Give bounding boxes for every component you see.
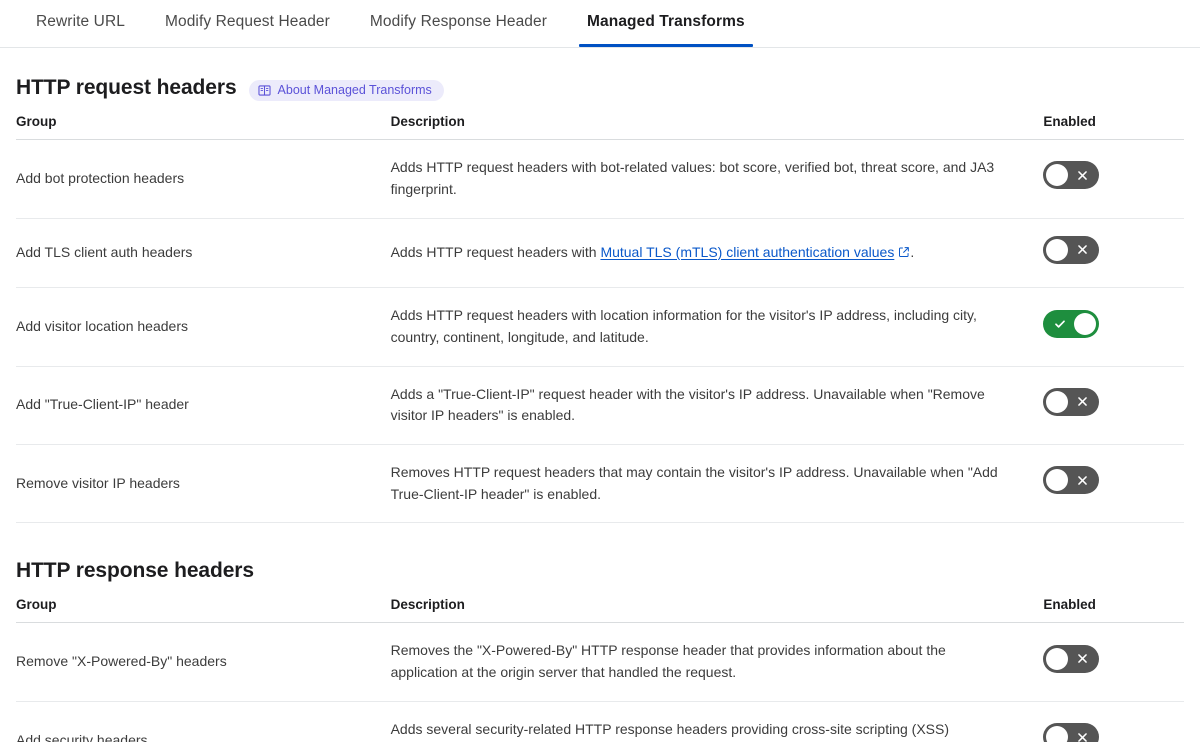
table-row: Add security headers Adds several securi… xyxy=(16,701,1184,742)
table-header-row: Group Description Enabled xyxy=(16,597,1184,623)
http-response-headers-section: HTTP response headers Group Description … xyxy=(0,523,1200,742)
mtls-documentation-link[interactable]: Mutual TLS (mTLS) client authentication … xyxy=(600,244,894,260)
row-description: Adds HTTP request headers with Mutual TL… xyxy=(391,218,1044,288)
toggle-add-bot-protection-headers[interactable] xyxy=(1043,161,1099,189)
close-icon xyxy=(1065,466,1099,494)
row-description: Adds HTTP request headers with location … xyxy=(391,288,1044,366)
toggle-add-true-client-ip-header[interactable] xyxy=(1043,388,1099,416)
tab-rewrite-url[interactable]: Rewrite URL xyxy=(16,0,145,46)
toggle-add-security-headers[interactable] xyxy=(1043,723,1099,742)
request-headers-table: Group Description Enabled Add bot protec… xyxy=(16,114,1184,523)
page-title: HTTP request headers xyxy=(16,76,237,100)
table-row: Add "True-Client-IP" header Adds a "True… xyxy=(16,366,1184,444)
row-description: Adds HTTP request headers with bot-relat… xyxy=(391,140,1044,218)
row-group-name: Remove "X-Powered-By" headers xyxy=(16,623,391,701)
close-icon xyxy=(1065,161,1099,189)
row-enabled-cell xyxy=(1043,444,1184,522)
toggle-knob xyxy=(1074,313,1096,335)
row-description: Removes the "X-Powered-By" HTTP response… xyxy=(391,623,1044,701)
table-row: Remove visitor IP headers Removes HTTP r… xyxy=(16,444,1184,522)
close-icon xyxy=(1065,645,1099,673)
table-header-row: Group Description Enabled xyxy=(16,114,1184,140)
row-description: Adds a "True-Client-IP" request header w… xyxy=(391,366,1044,444)
column-header-group: Group xyxy=(16,597,391,623)
managed-transforms-page: Rewrite URL Modify Request Header Modify… xyxy=(0,0,1200,742)
table-row: Add bot protection headers Adds HTTP req… xyxy=(16,140,1184,218)
tab-label: Modify Response Header xyxy=(370,13,547,30)
response-headers-table: Group Description Enabled Remove "X-Powe… xyxy=(16,597,1184,742)
tab-modify-request-header[interactable]: Modify Request Header xyxy=(145,0,350,46)
row-group-name: Remove visitor IP headers xyxy=(16,444,391,522)
row-group-name: Add "True-Client-IP" header xyxy=(16,366,391,444)
tab-label: Modify Request Header xyxy=(165,13,330,30)
row-group-name: Add security headers xyxy=(16,701,391,742)
column-header-enabled: Enabled xyxy=(1043,597,1184,623)
row-group-name: Add visitor location headers xyxy=(16,288,391,366)
toggle-add-visitor-location-headers[interactable] xyxy=(1043,310,1099,338)
row-enabled-cell xyxy=(1043,366,1184,444)
row-enabled-cell xyxy=(1043,140,1184,218)
tab-managed-transforms[interactable]: Managed Transforms xyxy=(567,0,765,46)
toggle-remove-visitor-ip-headers[interactable] xyxy=(1043,466,1099,494)
about-managed-transforms-badge[interactable]: About Managed Transforms xyxy=(249,80,444,101)
row-description: Removes HTTP request headers that may co… xyxy=(391,444,1044,522)
tab-modify-response-header[interactable]: Modify Response Header xyxy=(350,0,567,46)
row-description: Adds several security-related HTTP respo… xyxy=(391,701,1044,742)
close-icon xyxy=(1065,236,1099,264)
http-request-headers-section: HTTP request headers About Managed Trans… xyxy=(0,48,1200,523)
description-text-after: . xyxy=(910,244,914,260)
toggle-remove-x-powered-by-headers[interactable] xyxy=(1043,645,1099,673)
tab-label: Rewrite URL xyxy=(36,13,125,30)
row-enabled-cell xyxy=(1043,623,1184,701)
toggle-add-tls-client-auth-headers[interactable] xyxy=(1043,236,1099,264)
check-icon xyxy=(1043,310,1077,338)
description-text-before: Adds HTTP request headers with xyxy=(391,244,601,260)
response-section-header: HTTP response headers xyxy=(16,523,1184,597)
book-icon xyxy=(258,84,271,97)
row-enabled-cell xyxy=(1043,288,1184,366)
column-header-description: Description xyxy=(391,114,1044,140)
close-icon xyxy=(1065,388,1099,416)
row-group-name: Add TLS client auth headers xyxy=(16,218,391,288)
row-enabled-cell xyxy=(1043,701,1184,742)
badge-label: About Managed Transforms xyxy=(278,84,432,97)
column-header-description: Description xyxy=(391,597,1044,623)
close-icon xyxy=(1065,723,1099,742)
table-row: Add visitor location headers Adds HTTP r… xyxy=(16,288,1184,366)
table-row: Add TLS client auth headers Adds HTTP re… xyxy=(16,218,1184,288)
external-link-icon xyxy=(898,243,910,265)
tab-label: Managed Transforms xyxy=(587,13,745,30)
tab-bar: Rewrite URL Modify Request Header Modify… xyxy=(0,0,1200,48)
column-header-group: Group xyxy=(16,114,391,140)
column-header-enabled: Enabled xyxy=(1043,114,1184,140)
section-title: HTTP response headers xyxy=(16,559,254,583)
request-section-header: HTTP request headers About Managed Trans… xyxy=(16,48,1184,114)
table-row: Remove "X-Powered-By" headers Removes th… xyxy=(16,623,1184,701)
row-enabled-cell xyxy=(1043,218,1184,288)
row-group-name: Add bot protection headers xyxy=(16,140,391,218)
